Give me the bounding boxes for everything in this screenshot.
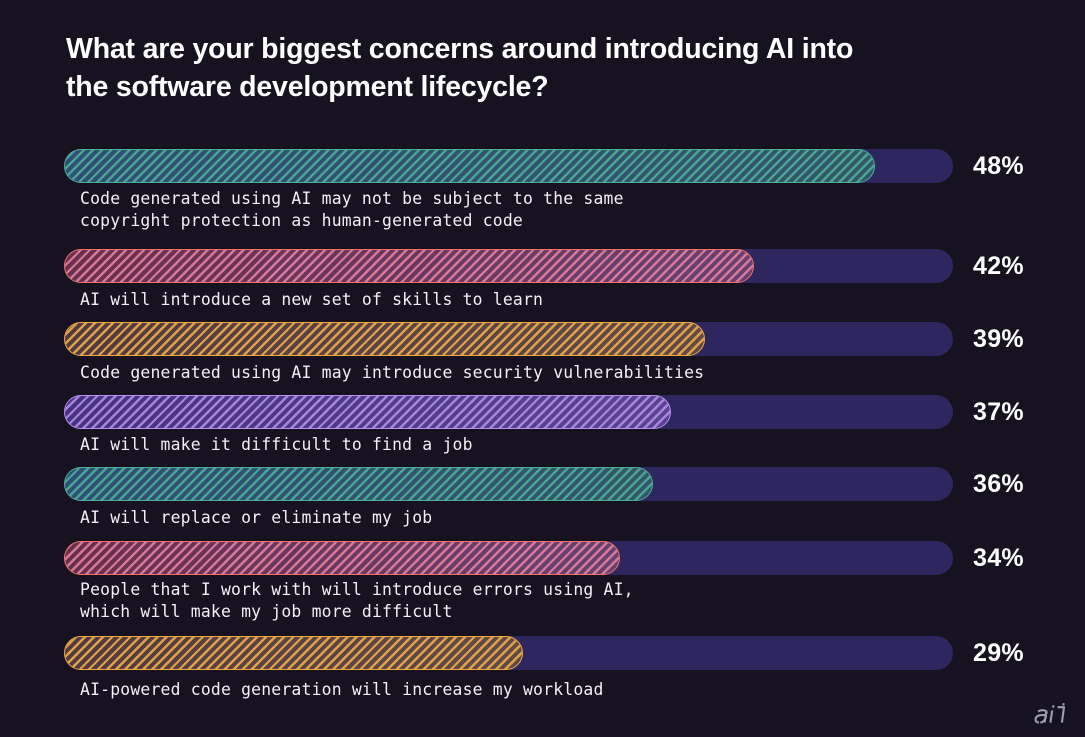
bar-track [64,467,953,501]
bar-track [64,249,953,283]
bar-category-label: AI will replace or eliminate my job [80,507,960,529]
bar-fill [64,249,754,283]
bar-track [64,322,953,356]
bar-value-label: 37% [973,395,1073,429]
bar-track [64,149,953,183]
bar-value-label: 29% [973,636,1073,670]
bar-track [64,541,953,575]
bar-value-label: 42% [973,249,1073,283]
bar-fill [64,322,705,356]
horizontal-bar-chart: 48%Code generated using AI may not be su… [0,0,1085,737]
bar-category-label: Code generated using AI may introduce se… [80,362,960,384]
bar-category-label: AI-powered code generation will increase… [80,679,960,701]
bar-fill [64,636,523,670]
bar-category-label: People that I work with will introduce e… [80,579,960,622]
bar-fill [64,149,875,183]
bar-value-label: 48% [973,149,1073,183]
bar-fill [64,541,620,575]
bar-value-label: 36% [973,467,1073,501]
chart-poster: What are your biggest concerns around in… [0,0,1085,737]
bar-category-label: Code generated using AI may not be subje… [80,188,960,231]
bar-fill [64,467,653,501]
bar-category-label: AI will make it difficult to find a job [80,434,960,456]
bar-track [64,636,953,670]
bar-track [64,395,953,429]
bar-value-label: 39% [973,322,1073,356]
bar-category-label: AI will introduce a new set of skills to… [80,289,960,311]
ai-logo: ai [1033,701,1075,731]
bar-value-label: 34% [973,541,1073,575]
bar-fill [64,395,671,429]
